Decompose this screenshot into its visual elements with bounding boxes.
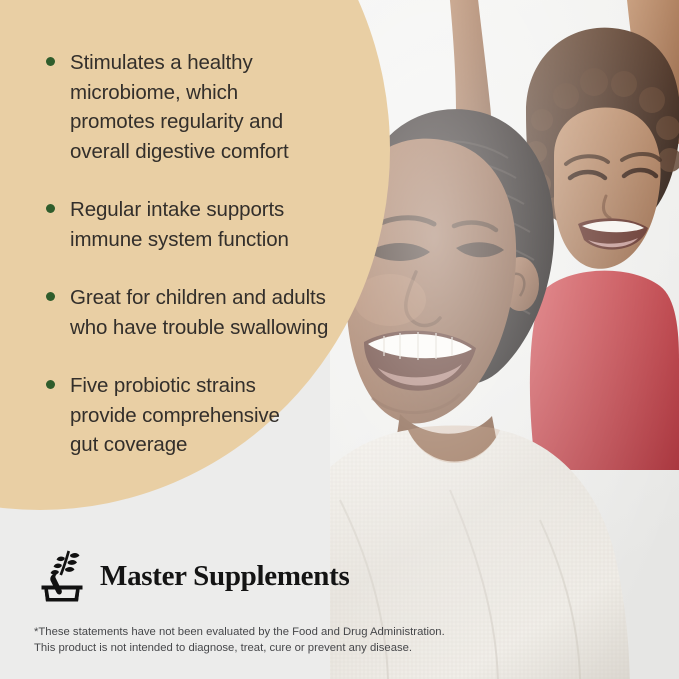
list-item: Great for children and adults who have t… [44, 283, 374, 342]
benefits-list: Stimulates a healthy microbiome, which p… [44, 48, 374, 489]
benefit-text: Five probiotic strains provide comprehen… [70, 371, 374, 460]
list-item: Regular intake supports immune system fu… [44, 195, 374, 254]
bullet-dot-icon [46, 292, 55, 301]
brand-lockup: Master Supplements [34, 545, 349, 607]
bullet-dot-icon [46, 204, 55, 213]
product-benefits-card: Stimulates a healthy microbiome, which p… [0, 0, 679, 679]
list-item: Stimulates a healthy microbiome, which p… [44, 48, 374, 166]
fda-disclaimer: *These statements have not been evaluate… [34, 625, 454, 656]
list-item: Five probiotic strains provide comprehen… [44, 371, 374, 460]
mortar-and-pestle-icon [34, 545, 90, 607]
benefit-text: Great for children and adults who have t… [70, 283, 374, 342]
bullet-dot-icon [46, 57, 55, 66]
benefit-text: Regular intake supports immune system fu… [70, 195, 374, 254]
brand-name: Master Supplements [100, 560, 349, 593]
bullet-dot-icon [46, 380, 55, 389]
benefit-text: Stimulates a healthy microbiome, which p… [70, 48, 374, 166]
